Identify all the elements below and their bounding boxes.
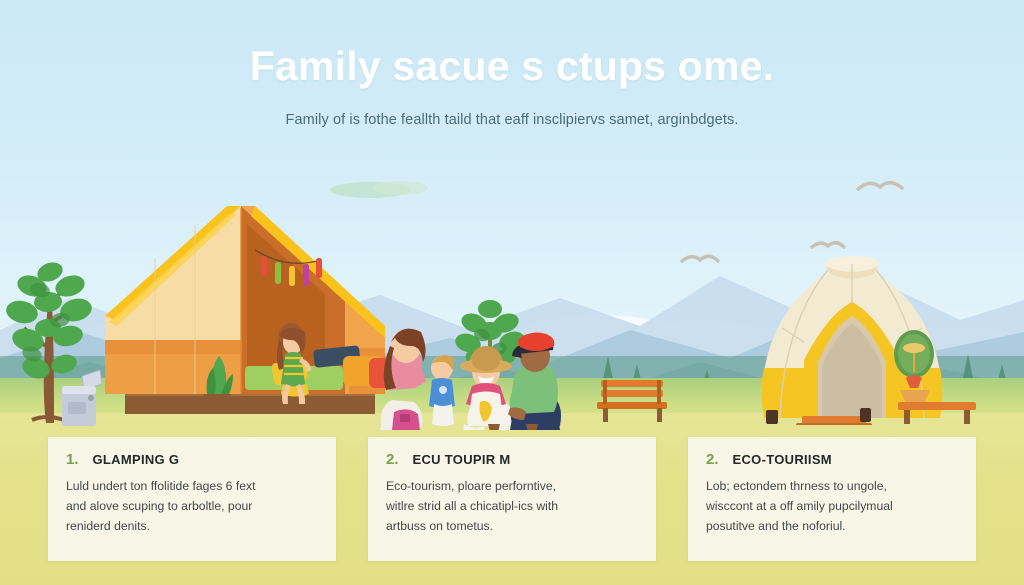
- card-body: Lob; ectondem thrness to ungole, wisccon…: [706, 477, 958, 536]
- card-body-line: witlre strid all a chicatipl-ics with: [386, 497, 638, 517]
- baby-figure: [429, 355, 455, 426]
- portable-cooler: [60, 368, 104, 428]
- card-body-line: artbuss on tometus.: [386, 517, 638, 537]
- father-figure: [508, 333, 561, 431]
- card-number: 2.: [386, 451, 399, 468]
- green-cloud-accent: [330, 176, 440, 198]
- card-body-line: wisccont at a off amily pupcilymual: [706, 497, 958, 517]
- card-title: ECO-TOURIISM: [733, 452, 832, 467]
- card-body: Eco-tourism, ploare perforntive, witlre …: [386, 477, 638, 536]
- card-header: 2. ECO-TOURIISM: [706, 451, 958, 468]
- glamping-tent: [95, 198, 395, 420]
- card-number: 2.: [706, 451, 719, 468]
- card-title: ECU TOUPIR M: [413, 452, 511, 467]
- card-number: 1.: [66, 451, 79, 468]
- info-card-3[interactable]: 2. ECO-TOURIISM Lob; ectondem thrness to…: [688, 437, 976, 561]
- card-title: GLAMPING G: [93, 452, 180, 467]
- card-body-line: and alove scuping to arboltle, pour: [66, 497, 318, 517]
- page-subtitle: Family of is fothe feallth taild that ea…: [0, 112, 1024, 128]
- info-card-1[interactable]: 1. GLAMPING G Luld undert ton ffolitide …: [48, 437, 336, 561]
- card-body-line: reniderd denits.: [66, 517, 318, 537]
- card-body-line: Lob; ectondem thrness to ungole,: [706, 477, 958, 497]
- card-header: 2. ECU TOUPIR M: [386, 451, 638, 468]
- card-header: 1. GLAMPING G: [66, 451, 318, 468]
- page-title: Family sacue s ctups ome.: [0, 44, 1024, 90]
- family-group: [360, 298, 585, 430]
- info-card-2[interactable]: 2. ECU TOUPIR M Eco-tourism, ploare perf…: [368, 437, 656, 561]
- poster-canvas: Family sacue s ctups ome. Family of is f…: [0, 0, 1024, 585]
- card-body-line: Eco-tourism, ploare perforntive,: [386, 477, 638, 497]
- header-block: Family sacue s ctups ome. Family of is f…: [0, 0, 1024, 128]
- card-body: Luld undert ton ffolitide fages 6 fext a…: [66, 477, 318, 536]
- park-bench: [595, 378, 675, 424]
- info-cards: 1. GLAMPING G Luld undert ton ffolitide …: [0, 437, 1024, 567]
- card-body-line: posutitve and the noforiul.: [706, 517, 958, 537]
- card-body-line: Luld undert ton ffolitide fages 6 fext: [66, 477, 318, 497]
- child-figure: [460, 346, 517, 430]
- yurt-tent: [742, 250, 992, 425]
